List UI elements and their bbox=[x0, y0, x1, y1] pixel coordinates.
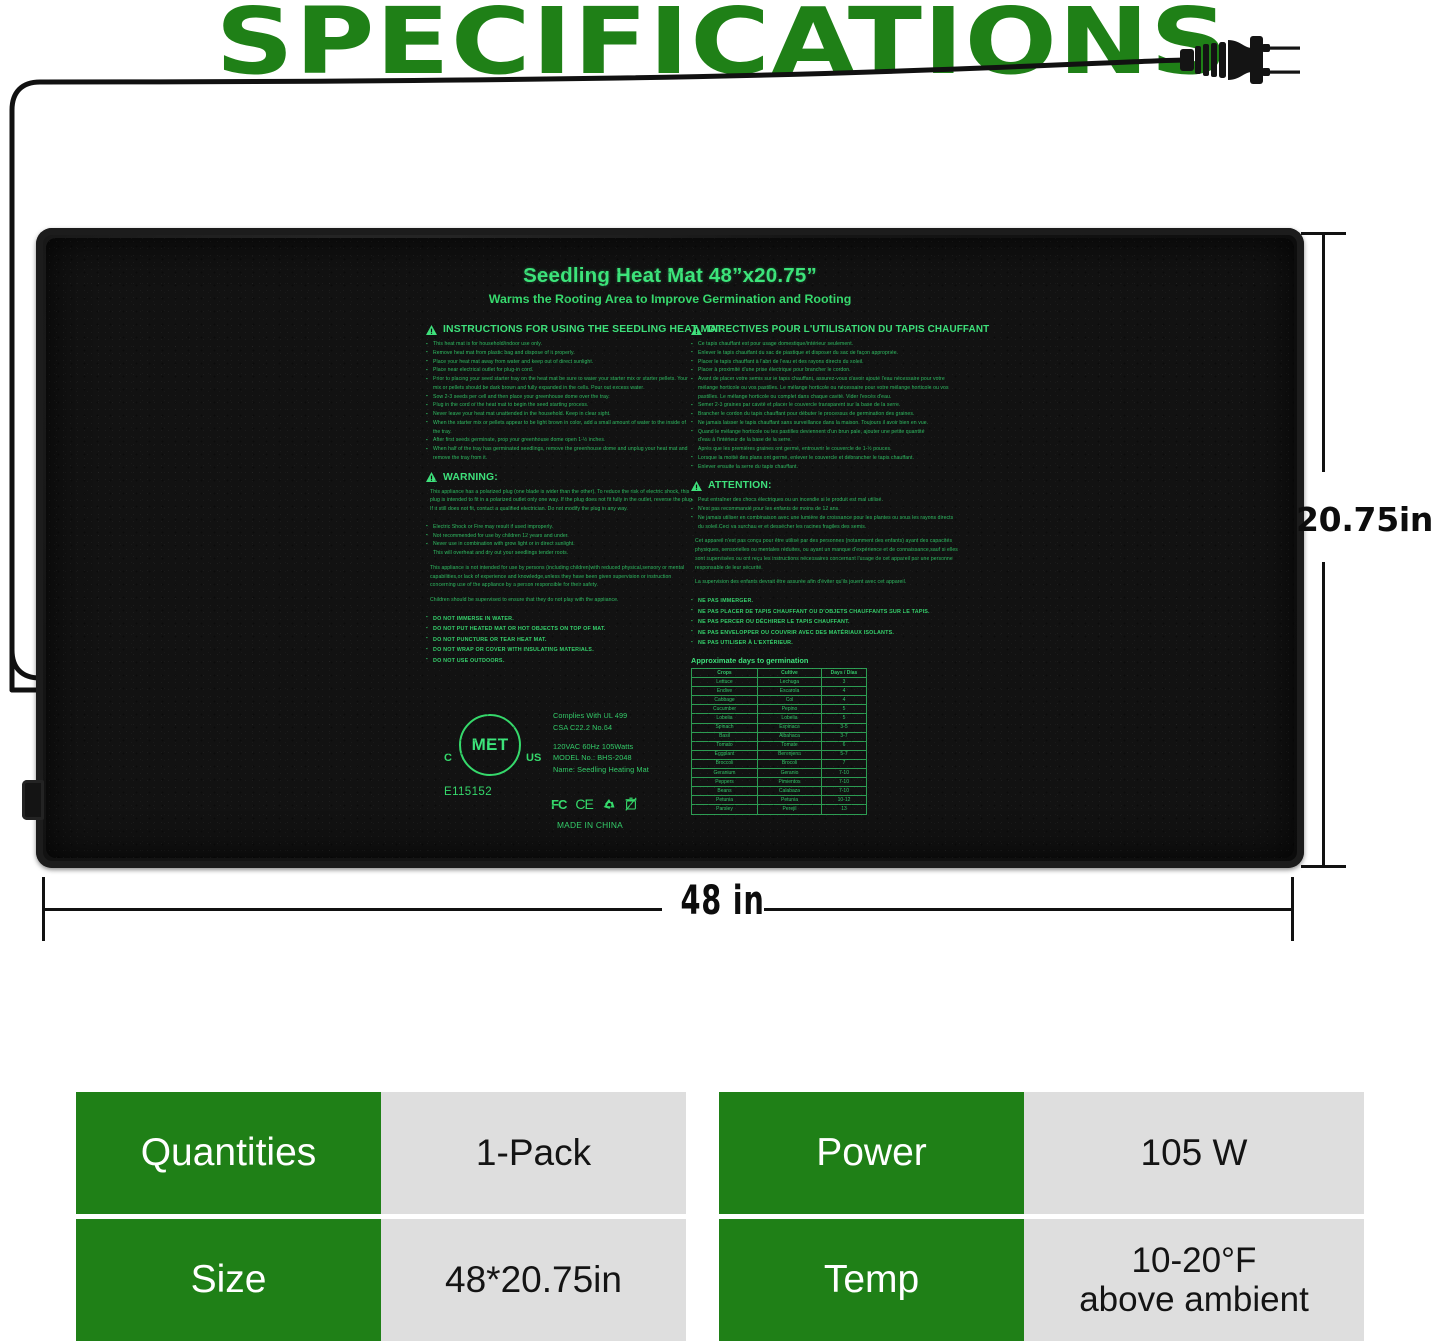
table-cell: Geranio bbox=[758, 769, 822, 778]
list-item: Sow 2-3 seeds per cell and then place yo… bbox=[426, 393, 694, 402]
table-cell: Geranium bbox=[692, 769, 758, 778]
list-item: Enlever ensuite la serre du tapis chauff… bbox=[691, 463, 959, 472]
directives-heading-row: DIRECTIVES POUR L'UTILISATION DU TAPIS C… bbox=[691, 324, 959, 335]
table-cell: 7-10 bbox=[822, 787, 867, 796]
warning-heading-row: WARNING: bbox=[426, 472, 694, 483]
spec-value-power: 105 W bbox=[1024, 1092, 1364, 1214]
french-instruction-column: DIRECTIVES POUR L'UTILISATION DU TAPIS C… bbox=[691, 324, 959, 649]
list-item: Lorsque la moitié des plans ont germé, e… bbox=[691, 454, 959, 463]
table-cell: Pimientos bbox=[758, 778, 822, 787]
table-cell: Lettuce bbox=[692, 678, 758, 687]
made-in-label: MADE IN CHINA bbox=[557, 820, 623, 830]
list-item: Not recommended for use by children 12 y… bbox=[426, 532, 694, 541]
table-cell: 4 bbox=[822, 687, 867, 696]
table-cell: Petunia bbox=[758, 796, 822, 805]
list-item: Plug in the cord of the heat mat to begi… bbox=[426, 401, 694, 410]
attention-heading-row: ATTENTION: bbox=[691, 480, 959, 491]
attention-paragraph-2: La supervision des enfants devrait être … bbox=[695, 578, 959, 587]
ne-pas-list: NE PAS IMMERGER. NE PAS PLACER DE TAPIS … bbox=[691, 596, 959, 649]
spec-value-size: 48*20.75in bbox=[381, 1219, 686, 1341]
list-item: DO NOT PUNCTURE OR TEAR HEAT MAT. bbox=[426, 635, 694, 646]
ce-icon: CE bbox=[575, 796, 592, 812]
specification-table: Quantities 1-Pack Power 105 W Size 48*20… bbox=[76, 1092, 1364, 1341]
mat-subtitle: Warms the Rooting Area to Improve Germin… bbox=[46, 292, 1294, 306]
table-cell: Calabaza bbox=[758, 787, 822, 796]
table-cell: 7-10 bbox=[822, 769, 867, 778]
germination-table: Crops Cultive Days / Días LettuceLechuga… bbox=[691, 668, 867, 815]
list-item: After first seeds germinate, prop your g… bbox=[426, 436, 694, 445]
met-certification-mark-icon: MET bbox=[459, 714, 521, 776]
fcc-icon: FC bbox=[551, 797, 566, 812]
list-item: Après que les premières graines ont germ… bbox=[691, 445, 959, 454]
regulatory-marks-row: FC CE bbox=[551, 796, 637, 812]
table-cell: 4 bbox=[822, 696, 867, 705]
list-item: Brancher le cordon du tapis chauffant po… bbox=[691, 410, 959, 419]
list-item: DO NOT WRAP OR COVER WITH INSULATING MAT… bbox=[426, 645, 694, 656]
table-header-row: Crops Cultive Days / Días bbox=[692, 669, 867, 678]
warning-heading: WARNING: bbox=[443, 472, 498, 483]
table-gap bbox=[686, 1219, 719, 1341]
table-cell: Tomate bbox=[758, 741, 822, 750]
table-cell: 7-10 bbox=[822, 778, 867, 787]
spec-value-temp: 10-20°F above ambient bbox=[1024, 1219, 1364, 1341]
table-cell: Broccoli bbox=[692, 759, 758, 768]
table-row: ParsleyPerejil13 bbox=[692, 805, 867, 814]
table-cell: Lechuga bbox=[758, 678, 822, 687]
list-item: DO NOT IMMERSE IN WATER. bbox=[426, 614, 694, 625]
table-cell: 3-7 bbox=[822, 732, 867, 741]
dimension-cap-right bbox=[1291, 877, 1294, 941]
germination-table-body: LettuceLechuga3EndiveEscarola4CabbageCol… bbox=[692, 678, 867, 814]
table-cell: Peppers bbox=[692, 778, 758, 787]
attention-heading: ATTENTION: bbox=[708, 480, 772, 491]
model-number-line: MODEL No.: BHS-2048 bbox=[553, 752, 683, 764]
recycle-icon bbox=[602, 798, 616, 811]
column-header: Cultive bbox=[758, 669, 822, 678]
list-item: Electric Shock or Fire may result if use… bbox=[426, 523, 694, 532]
warning-paragraph-2: This appliance is not intended for use b… bbox=[430, 564, 694, 590]
compliance-line: CSA C22.2 No.64 bbox=[553, 722, 683, 734]
table-cell: 3 bbox=[822, 678, 867, 687]
list-item: DO NOT PUT HEATED MAT OR HOT OBJECTS ON … bbox=[426, 624, 694, 635]
spec-label-power: Power bbox=[719, 1092, 1024, 1214]
list-item: DO NOT USE OUTDOORS. bbox=[426, 656, 694, 667]
list-item: NE PAS PERCER OU DÉCHIRER LE TAPIS CHAUF… bbox=[691, 617, 959, 628]
warning-triangle-icon bbox=[426, 325, 437, 335]
attention-paragraph: Cet appareil n'est pas conçu pour être u… bbox=[695, 537, 959, 572]
attention-list: Peut entraîner des chocs électriques ou … bbox=[691, 496, 959, 531]
germination-table-title: Approximate days to germination bbox=[691, 656, 871, 665]
warning-paragraph: This appliance has a polarized plug (one… bbox=[430, 488, 694, 514]
table-row: TomatoTomate6 bbox=[692, 741, 867, 750]
spec-label-size: Size bbox=[76, 1219, 381, 1341]
list-item: NE PAS UTILISER À L'EXTÉRIEUR. bbox=[691, 638, 959, 649]
list-item: Ne jamais laisser le tapis chauffant san… bbox=[691, 419, 959, 428]
list-item: NE PAS ENVELOPPER OU COUVRIR AVEC DES MA… bbox=[691, 628, 959, 639]
column-header: Days / Días bbox=[822, 669, 867, 678]
certification-file-number: E115152 bbox=[444, 786, 492, 798]
directives-list: Ce tapis chauffant est pour usage domest… bbox=[691, 340, 959, 471]
height-dimension-label: 20.75in bbox=[1296, 500, 1433, 539]
table-cell: Lobelia bbox=[692, 714, 758, 723]
table-cell: Beans bbox=[692, 787, 758, 796]
instructions-heading: INSTRUCTIONS FOR USING THE SEEDLING HEAT… bbox=[443, 324, 723, 335]
table-cell: Pepino bbox=[758, 705, 822, 714]
table-cell: Eggplant bbox=[692, 750, 758, 759]
certification-block: MET C US E115152 Complies With UL 499 CS… bbox=[431, 708, 681, 838]
plug-icon bbox=[1180, 36, 1300, 84]
do-not-list: DO NOT IMMERSE IN WATER. DO NOT PUT HEAT… bbox=[426, 614, 694, 667]
met-us-label: US bbox=[526, 752, 541, 764]
table-row: LettuceLechuga3 bbox=[692, 678, 867, 687]
directives-heading: DIRECTIVES POUR L'UTILISATION DU TAPIS C… bbox=[708, 324, 989, 335]
table-cell: Brocoli bbox=[758, 759, 822, 768]
germination-table-block: Approximate days to germination Crops Cu… bbox=[691, 656, 871, 815]
list-item: Quand le mélange horticole ou les pastil… bbox=[691, 428, 959, 437]
table-row: PetuniaPetunia10-12 bbox=[692, 796, 867, 805]
table-row: PeppersPimientos7-10 bbox=[692, 778, 867, 787]
product-name-line: Name: Seedling Heating Mat bbox=[553, 764, 683, 776]
warning-triangle-icon bbox=[426, 472, 437, 482]
warning-paragraph-3: Children should be supervised to ensure … bbox=[430, 596, 694, 605]
table-cell: Spinach bbox=[692, 723, 758, 732]
warning-triangle-icon bbox=[691, 325, 702, 335]
list-item: Place near electrical outlet for plug-in… bbox=[426, 366, 694, 375]
table-cell: Tomato bbox=[692, 741, 758, 750]
table-cell: Cabbage bbox=[692, 696, 758, 705]
instructions-list: This heat mat is for household/indoor us… bbox=[426, 340, 694, 463]
list-item: Ce tapis chauffant est pour usage domest… bbox=[691, 340, 959, 349]
list-item: Enlever le tapis chauffant du sac de pla… bbox=[691, 349, 959, 358]
list-item: Place your heat mat away from water and … bbox=[426, 358, 694, 367]
list-item: d'eau à l'intérieur de la base de la ser… bbox=[691, 436, 959, 445]
table-cell: Escarola bbox=[758, 687, 822, 696]
list-item: When half of the tray has germinated see… bbox=[426, 445, 694, 463]
table-cell: 13 bbox=[822, 805, 867, 814]
table-cell: Col bbox=[758, 696, 822, 705]
table-cell: Cucumber bbox=[692, 705, 758, 714]
table-row: LobeliaLobelia5 bbox=[692, 714, 867, 723]
electrical-rating-line: 120VAC 60Hz 105Watts bbox=[553, 741, 683, 753]
table-row: BeansCalabaza7-10 bbox=[692, 787, 867, 796]
mat-title: Seedling Heat Mat 48”x20.75” bbox=[46, 264, 1294, 288]
spec-label-quantities: Quantities bbox=[76, 1092, 381, 1214]
met-label: MET bbox=[472, 735, 509, 755]
warning-list: Electric Shock or Fire may result if use… bbox=[426, 523, 694, 558]
list-item: This will overheat and dry out your seed… bbox=[426, 549, 694, 558]
temp-value-line-1: 10-20°F bbox=[1079, 1241, 1309, 1280]
table-row: GeraniumGeranio7-10 bbox=[692, 769, 867, 778]
table-cell: Basil bbox=[692, 732, 758, 741]
table-row: EndiveEscarola4 bbox=[692, 687, 867, 696]
dimension-cap-bottom bbox=[1301, 865, 1346, 868]
table-cell: 6 bbox=[822, 741, 867, 750]
english-instruction-column: INSTRUCTIONS FOR USING THE SEEDLING HEAT… bbox=[426, 324, 694, 666]
list-item: Placer le tapis chauffant à l'abri de l'… bbox=[691, 358, 959, 367]
table-gap bbox=[686, 1092, 719, 1214]
table-row: CucumberPepino5 bbox=[692, 705, 867, 714]
table-cell: 10-12 bbox=[822, 796, 867, 805]
spec-value-quantities: 1-Pack bbox=[381, 1092, 686, 1214]
cord-entry-grommet bbox=[22, 780, 44, 820]
list-item: NE PAS PLACER DE TAPIS CHAUFFANT OU D'OB… bbox=[691, 607, 959, 618]
table-cell: 3-5 bbox=[822, 723, 867, 732]
list-item: Avant de placer votre semis sur le tapis… bbox=[691, 375, 959, 401]
specification-page: SPECIFICATIONS bbox=[0, 0, 1445, 1343]
list-item: Prior to placing your seed starter tray … bbox=[426, 375, 694, 393]
list-item: N'est pas recommandé pour les enfants de… bbox=[691, 505, 959, 514]
warning-triangle-icon bbox=[691, 481, 702, 491]
list-item: When the starter mix or pellets appear t… bbox=[426, 419, 694, 437]
list-item: Never use in combination with grow light… bbox=[426, 540, 694, 549]
dimension-line-upper bbox=[1322, 232, 1325, 472]
list-item: Ne jamais utiliser en combinaison avec u… bbox=[691, 514, 959, 532]
mat-printed-surface: Seedling Heat Mat 48”x20.75” Warms the R… bbox=[46, 238, 1294, 858]
seedling-heat-mat-product-image: Seedling Heat Mat 48”x20.75” Warms the R… bbox=[36, 228, 1304, 868]
certification-text-lines: Complies With UL 499 CSA C22.2 No.64 120… bbox=[553, 710, 683, 776]
table-cell: Perejil bbox=[758, 805, 822, 814]
compliance-line: Complies With UL 499 bbox=[553, 710, 683, 722]
temp-value-line-2: above ambient bbox=[1079, 1280, 1309, 1319]
table-cell: 7 bbox=[822, 759, 867, 768]
list-item: Remove heat mat from plastic bag and dis… bbox=[426, 349, 694, 358]
column-header: Crops bbox=[692, 669, 758, 678]
weee-crossed-bin-icon bbox=[625, 797, 637, 811]
table-cell: Lobelia bbox=[758, 714, 822, 723]
table-row: SpinachEspinaca3-5 bbox=[692, 723, 867, 732]
table-cell: Espinaca bbox=[758, 723, 822, 732]
table-cell: Parsley bbox=[692, 805, 758, 814]
list-item: Peut entraîner des chocs électriques ou … bbox=[691, 496, 959, 505]
table-cell: 5 bbox=[822, 705, 867, 714]
table-cell: Albahaca bbox=[758, 732, 822, 741]
list-item: Semer 2-3 graines par cavité et placer l… bbox=[691, 401, 959, 410]
list-item: Never leave your heat mat unattended in … bbox=[426, 410, 694, 419]
table-row: BasilAlbahaca3-7 bbox=[692, 732, 867, 741]
met-c-label: C bbox=[444, 752, 452, 764]
table-row: BroccoliBrocoli7 bbox=[692, 759, 867, 768]
instructions-heading-row: INSTRUCTIONS FOR USING THE SEEDLING HEAT… bbox=[426, 324, 694, 335]
width-dimension-label: 48 in bbox=[202, 878, 1242, 924]
table-cell: 5-7 bbox=[822, 750, 867, 759]
dimension-line-lower bbox=[1322, 562, 1325, 868]
list-item: This heat mat is for household/indoor us… bbox=[426, 340, 694, 349]
table-cell: Petunia bbox=[692, 796, 758, 805]
table-row: EggplantBerenjena5-7 bbox=[692, 750, 867, 759]
table-cell: Endive bbox=[692, 687, 758, 696]
list-item: NE PAS IMMERGER. bbox=[691, 596, 959, 607]
spec-label-temp: Temp bbox=[719, 1219, 1024, 1341]
table-row: CabbageCol4 bbox=[692, 696, 867, 705]
table-cell: Berenjena bbox=[758, 750, 822, 759]
table-cell: 5 bbox=[822, 714, 867, 723]
list-item: Placer à proximité d'une prise électriqu… bbox=[691, 366, 959, 375]
height-dimension-line bbox=[1322, 232, 1324, 868]
